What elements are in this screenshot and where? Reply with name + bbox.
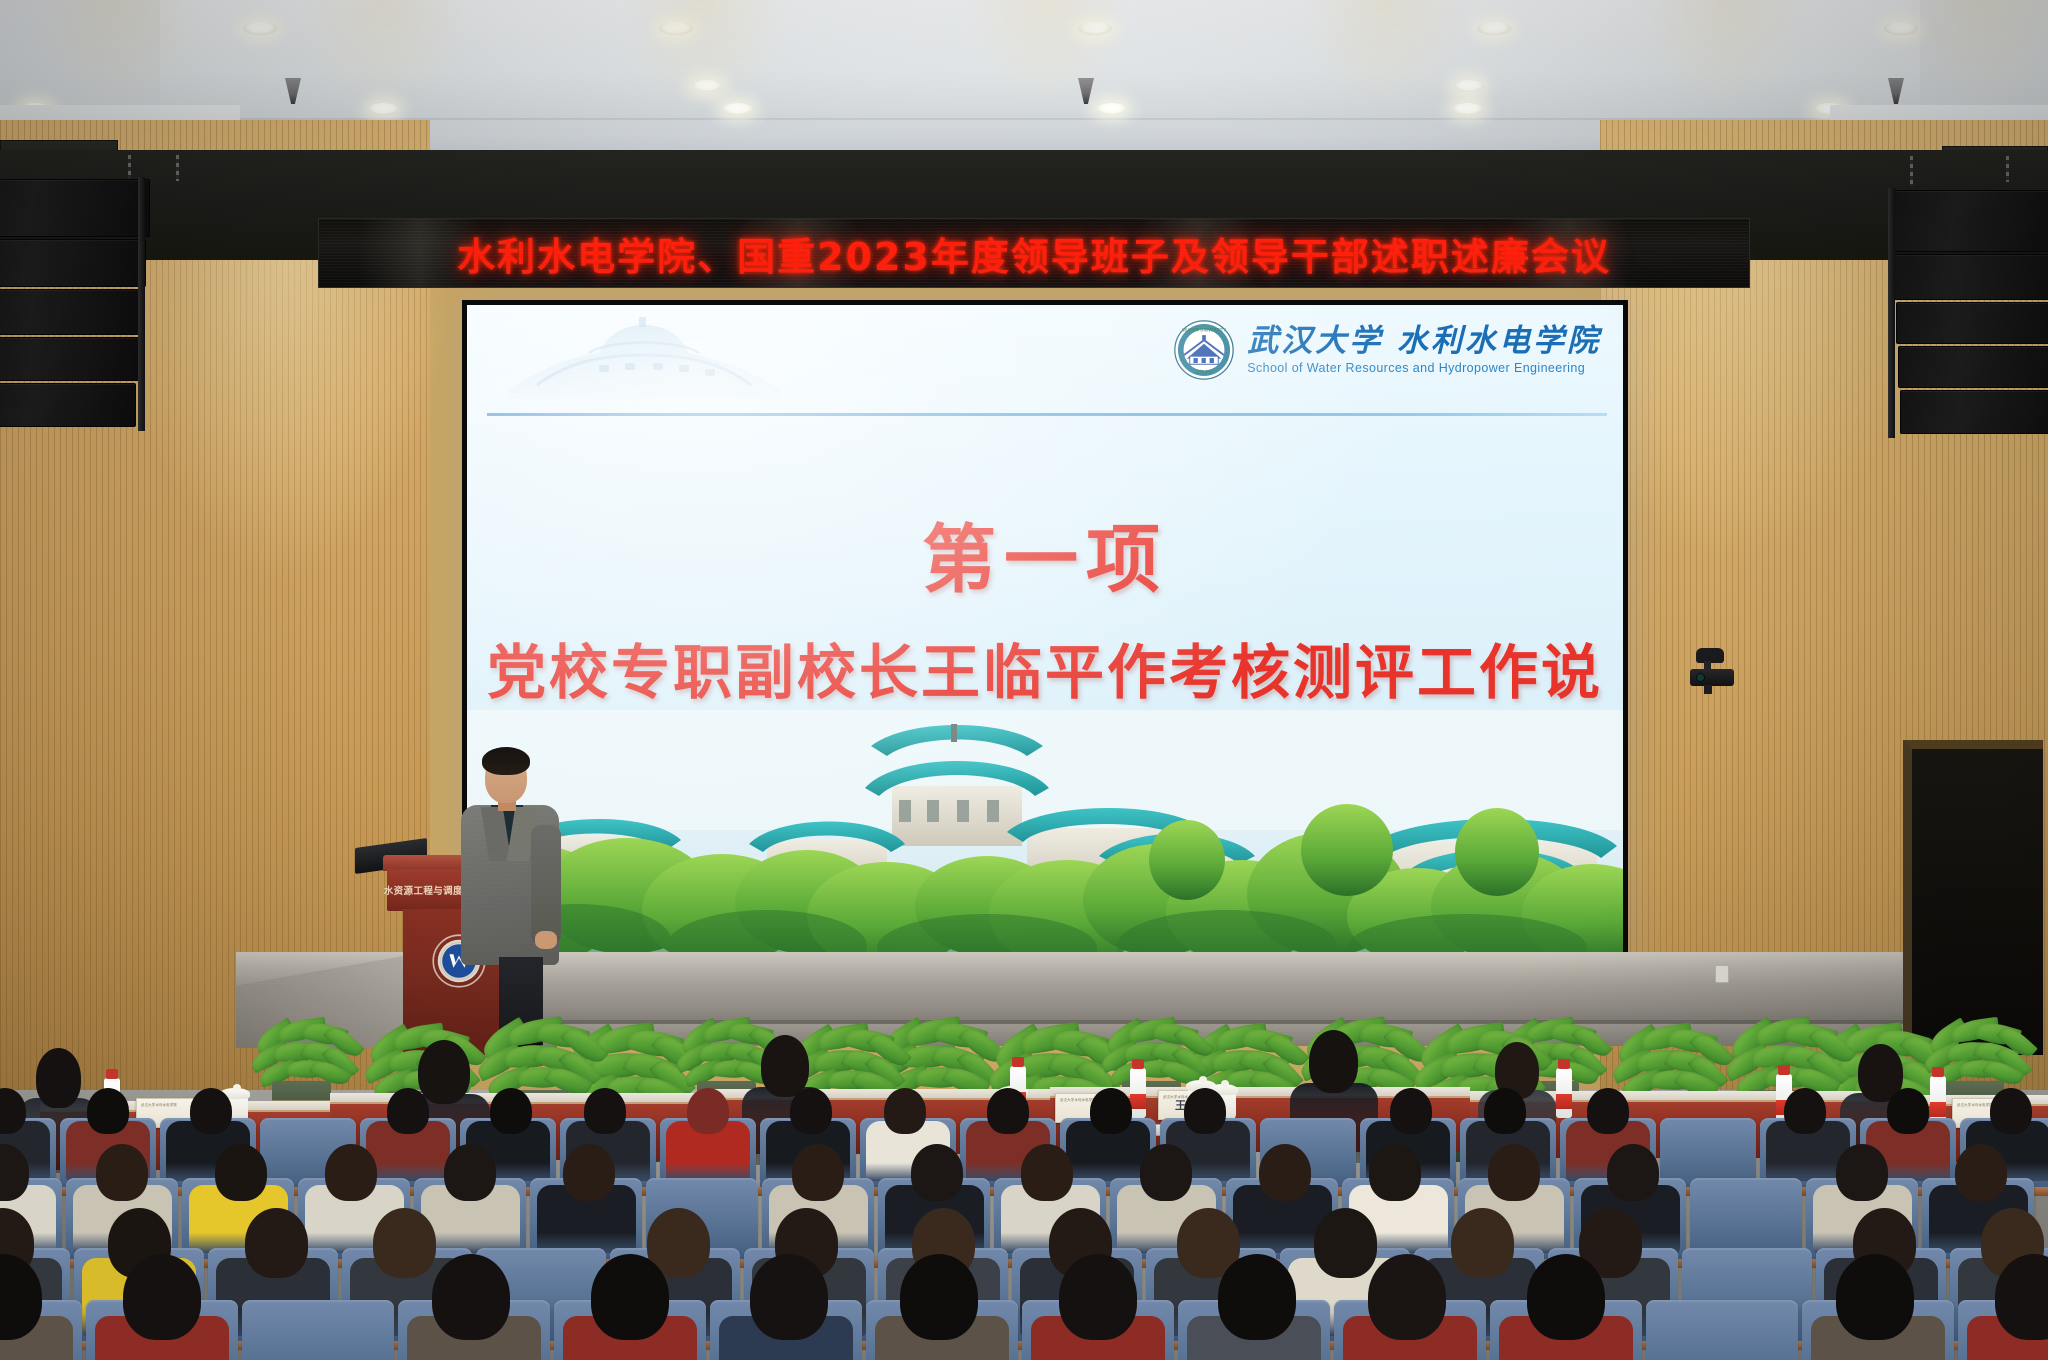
audience-head [792, 1144, 844, 1201]
audience-head [911, 1144, 963, 1201]
speaker-module [1896, 302, 2048, 344]
audience-head [987, 1088, 1029, 1134]
seat[interactable] [242, 1300, 394, 1360]
wuhan-university-seal-icon: WUHAN UNIVERSITY 武汉大学 [1173, 319, 1235, 381]
presenter-hand [535, 931, 557, 949]
audience-head [1059, 1254, 1137, 1340]
audience-head [1368, 1254, 1446, 1340]
audience-head [790, 1088, 832, 1134]
namecard-subtitle: 武汉大学水利水电学院 [1060, 1097, 1096, 1102]
line-array-speakers-right [1876, 178, 2048, 488]
audience-head [325, 1144, 377, 1201]
speaker-chain [1910, 156, 1913, 186]
audience-head-front [418, 1040, 470, 1104]
audience-head [1021, 1144, 1073, 1201]
camera-lens-icon [1696, 673, 1705, 682]
speaker-chain [2006, 156, 2009, 182]
university-name-group: 武汉大学 水利水电学院 School of Water Resources an… [1247, 326, 1601, 375]
audience-head [245, 1208, 308, 1278]
audience-head [750, 1254, 828, 1340]
audience-head [884, 1088, 926, 1134]
audience-head [1587, 1088, 1629, 1134]
speaker-module [0, 239, 146, 287]
light-switch[interactable] [1715, 965, 1729, 983]
university-logo-block: WUHAN UNIVERSITY 武汉大学 武汉大学 水利水电学院 School… [1173, 319, 1601, 381]
bottle-cap [1012, 1057, 1024, 1067]
speaker-rail [1888, 188, 1895, 438]
audience-head [1184, 1088, 1226, 1134]
audience-head [432, 1254, 510, 1340]
speaker-chain [176, 155, 179, 181]
audience-head [1607, 1144, 1659, 1201]
speaker-module [1894, 254, 2048, 300]
audience-head [1955, 1144, 2007, 1201]
seat[interactable] [1646, 1300, 1798, 1360]
bottle-label [1930, 1102, 1946, 1117]
audience-head [1090, 1088, 1132, 1134]
audience-head [584, 1088, 626, 1134]
header-band-glow [30, 0, 200, 110]
audience-head [1218, 1254, 1296, 1340]
audience-head [1527, 1254, 1605, 1340]
camera-mount [1704, 685, 1712, 694]
water-bottle [1556, 1068, 1572, 1118]
audience-head [373, 1208, 436, 1278]
audience-head [1140, 1144, 1192, 1201]
bottle-label [1130, 1094, 1146, 1109]
audience-head [1836, 1144, 1888, 1201]
audience-head [444, 1144, 496, 1201]
speaker-module [0, 289, 144, 335]
audience-head [123, 1254, 201, 1340]
led-banner-text: 水利水电学院、国重2023年度领导班子及领导干部述职述廉会议 [457, 226, 1611, 281]
speaker-module [0, 337, 140, 381]
presenter-arm [531, 825, 561, 945]
header-band-glow [1900, 0, 2048, 110]
header-band-glow [620, 0, 790, 110]
ceiling-downlight [1477, 22, 1511, 35]
audience-head [490, 1088, 532, 1134]
university-name-cn: 武汉大学 水利水电学院 [1247, 326, 1601, 357]
audience-head [215, 1144, 267, 1201]
bottle-label [1556, 1094, 1572, 1109]
audience-head [1451, 1208, 1514, 1278]
campus-photo-band [467, 710, 1623, 965]
bottle-cap [1932, 1067, 1944, 1077]
audience-head [87, 1088, 129, 1134]
teacup-knob [233, 1084, 241, 1091]
audience-head [1314, 1208, 1377, 1278]
bottle-cap [1132, 1059, 1144, 1069]
school-name-en: School of Water Resources and Hydropower… [1247, 362, 1601, 375]
audience-head [1484, 1088, 1526, 1134]
projection-screen: WUHAN UNIVERSITY 武汉大学 武汉大学 水利水电学院 School… [462, 300, 1628, 970]
audience-head [591, 1254, 669, 1340]
audience-head [1259, 1144, 1311, 1201]
audience-head [96, 1144, 148, 1201]
bottle-cap [1558, 1059, 1570, 1069]
svg-text:WUHAN UNIVERSITY: WUHAN UNIVERSITY [1182, 327, 1226, 333]
presenter-person [455, 735, 565, 1060]
audience-head [1887, 1088, 1929, 1134]
wall-mounted-ptz-camera [1690, 648, 1738, 694]
header-band-glow [1300, 0, 1470, 110]
speaker-module [1898, 346, 2048, 388]
bottle-cap [106, 1069, 118, 1079]
audience-head-front [1309, 1030, 1358, 1093]
audience-head [1836, 1254, 1914, 1340]
doorway-interior [1912, 749, 2043, 1055]
speaker-module [1900, 390, 2048, 434]
water-bottle [1130, 1068, 1146, 1118]
led-banner: 水利水电学院、国重2023年度领导班子及领导干部述职述廉会议 [318, 218, 1750, 288]
audience-head [563, 1144, 615, 1201]
speaker-module [0, 383, 136, 427]
audience-head [687, 1088, 729, 1134]
audience-head-front [36, 1048, 81, 1108]
teacup-knob [1199, 1076, 1207, 1083]
audience-head [190, 1088, 232, 1134]
audience-head [1784, 1088, 1826, 1134]
presenter-hair [482, 747, 530, 775]
audience-head [1369, 1144, 1421, 1201]
audience-head [1488, 1144, 1540, 1201]
chinese-roof-watermark-icon [489, 313, 799, 413]
ceiling-downlight [243, 22, 277, 35]
namecard-subtitle: 武汉大学水利水电学院 [1957, 1102, 1993, 1107]
line-array-speakers-left [8, 175, 233, 475]
slide-surface: WUHAN UNIVERSITY 武汉大学 武汉大学 水利水电学院 School… [467, 305, 1623, 965]
header-band-glow [960, 0, 1130, 110]
audience-head [1990, 1088, 2032, 1134]
side-exit-doorway[interactable] [1903, 740, 2043, 1055]
conference-hall-photo: 水利水电学院、国重2023年度领导班子及领导干部述职述廉会议 [0, 0, 2048, 1360]
teacup-knob [1221, 1080, 1229, 1087]
speaker-module [0, 179, 150, 237]
bottle-cap [1778, 1065, 1790, 1075]
slide-title-primary: 第一项 [467, 500, 1623, 607]
slide-header-rule [487, 413, 1607, 416]
wuhan-university-old-library-illustration [467, 710, 1623, 965]
speaker-module [1892, 190, 2048, 252]
header-band-glow [300, 0, 470, 110]
speaker-rail [138, 177, 145, 431]
audience-head [900, 1254, 978, 1340]
namecard-subtitle: 武汉大学水利水电学院 [141, 1102, 177, 1107]
header-band-glow [1640, 0, 1810, 110]
audience-head [1390, 1088, 1432, 1134]
audience-head [387, 1088, 429, 1134]
audience-head-front [761, 1035, 809, 1097]
